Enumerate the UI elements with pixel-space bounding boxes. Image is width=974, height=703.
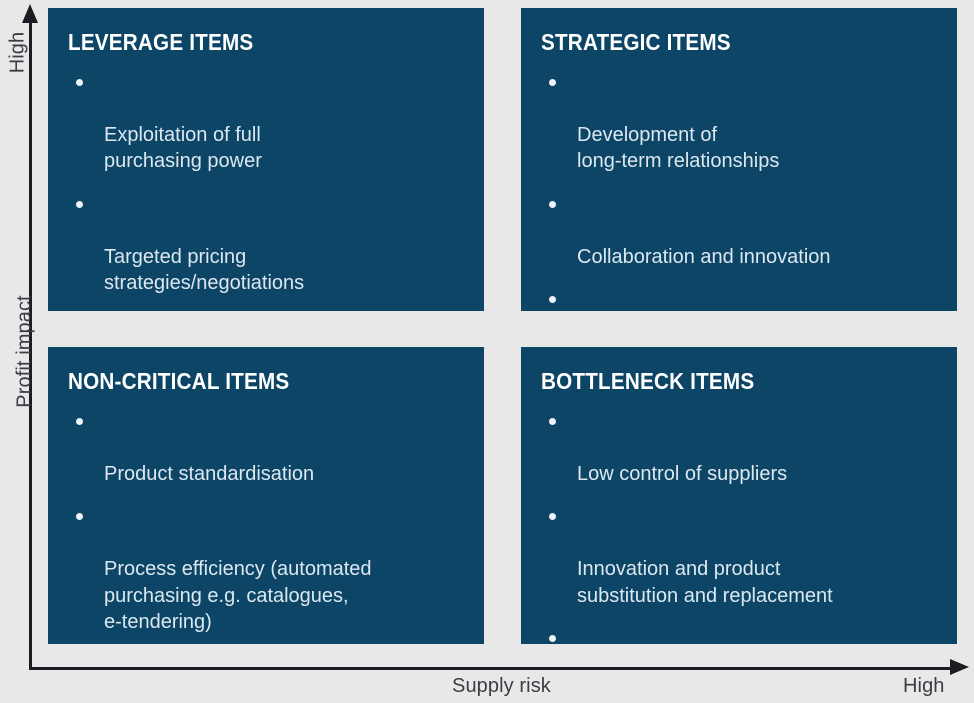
list-item-text: Targeted pricing strategies/negotiations (104, 246, 304, 294)
list-item-text: Innovation and product substitution and … (577, 558, 833, 606)
bullet-dot-icon (76, 79, 83, 86)
y-axis-high-label: High (7, 23, 30, 83)
list-item-text: Product standardisation (104, 463, 314, 485)
bullet-dot-icon (76, 418, 83, 425)
quadrant-title: BOTTLENECK ITEMS (541, 369, 894, 394)
y-axis-arrow-icon (22, 4, 38, 23)
list-item: Collaboration and innovation (541, 191, 933, 270)
list-item: Natural scarcity (541, 286, 933, 311)
list-item: Low control of suppliers (541, 408, 933, 487)
list-item-text: Collaboration and innovation (577, 246, 831, 268)
quadrant-bullet-list: Product standardisation Process efficien… (68, 408, 460, 644)
bullet-dot-icon (549, 79, 556, 86)
bullet-dot-icon (549, 418, 556, 425)
list-item-text: Development of long-term relationships (577, 124, 779, 172)
bullet-dot-icon (76, 201, 83, 208)
quadrant-title: NON-CRITICAL ITEMS (68, 369, 421, 394)
list-item: Production-based scarcity (541, 625, 933, 644)
list-item: Innovation and product substitution and … (541, 503, 933, 609)
bullet-dot-icon (76, 513, 83, 520)
list-item: Product standardisation (68, 408, 460, 487)
list-item: Exploitation of full purchasing power (68, 69, 460, 175)
list-item-text: Exploitation of full purchasing power (104, 124, 262, 172)
x-axis-line (29, 667, 957, 670)
quadrant-title: LEVERAGE ITEMS (68, 30, 421, 55)
list-item: Development of long-term relationships (541, 69, 933, 175)
quadrant-strategic: STRATEGIC ITEMS Development of long-term… (521, 8, 957, 311)
bullet-dot-icon (549, 296, 556, 303)
quadrant-grid: LEVERAGE ITEMS Exploitation of full purc… (48, 8, 957, 644)
list-item: Targeted pricing strategies/negotiations (68, 191, 460, 297)
quadrant-bullet-list: Low control of suppliers Innovation and … (541, 408, 933, 644)
bullet-dot-icon (549, 201, 556, 208)
quadrant-bullet-list: Development of long-term relationships C… (541, 69, 933, 311)
x-axis-title: Supply risk (452, 675, 551, 698)
list-item-text: Low control of suppliers (577, 463, 787, 485)
quadrant-non-critical: NON-CRITICAL ITEMS Product standardisati… (48, 347, 484, 644)
x-axis-arrow-icon (950, 659, 969, 675)
y-axis-title: Profit impact (14, 292, 37, 412)
list-item-text: Process efficiency (automated purchasing… (104, 558, 372, 633)
quadrant-title: STRATEGIC ITEMS (541, 30, 894, 55)
kraljic-matrix-diagram: High Profit impact Supply risk High LEVE… (0, 0, 974, 703)
quadrant-bottleneck: BOTTLENECK ITEMS Low control of supplier… (521, 347, 957, 644)
quadrant-bullet-list: Exploitation of full purchasing power Ta… (68, 69, 460, 311)
quadrant-leverage: LEVERAGE ITEMS Exploitation of full purc… (48, 8, 484, 311)
list-item: Process efficiency (automated purchasing… (68, 503, 460, 635)
bullet-dot-icon (549, 635, 556, 642)
x-axis-high-label: High (903, 675, 945, 698)
bullet-dot-icon (549, 513, 556, 520)
